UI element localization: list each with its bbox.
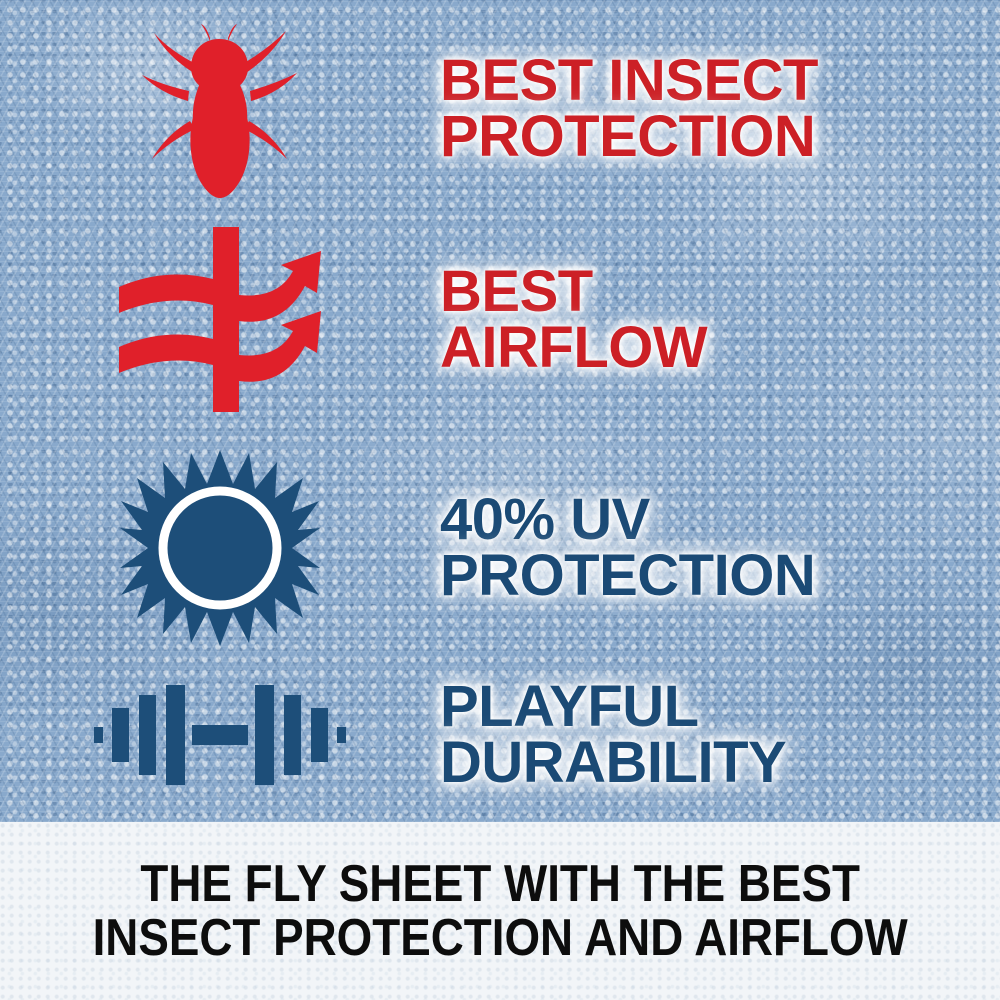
icon-cell-insect — [0, 17, 440, 202]
dumbbell-icon — [94, 675, 346, 795]
feature-row-uv-protection: 40% UV PROTECTION — [0, 440, 1000, 655]
text-cell-durability: PLAYFUL DURABILITY — [440, 679, 1000, 790]
feature-label-durability: PLAYFUL DURABILITY — [440, 679, 1000, 790]
product-feature-infographic: BEST INSECT PROTECTION — [0, 0, 1000, 1000]
feature-label-uv-protection: 40% UV PROTECTION — [440, 492, 1000, 603]
text-cell-airflow: BEST AIRFLOW — [440, 264, 1000, 375]
icon-cell-airflow — [0, 227, 440, 412]
icon-cell-uv — [0, 448, 440, 648]
feature-row-insect-protection: BEST INSECT PROTECTION — [0, 14, 1000, 204]
airflow-arrows-icon — [113, 227, 328, 412]
feature-row-durability: PLAYFUL DURABILITY — [0, 655, 1000, 815]
fly-icon — [140, 17, 300, 202]
text-cell-uv: 40% UV PROTECTION — [440, 492, 1000, 603]
sun-icon — [120, 448, 320, 648]
icon-cell-durability — [0, 675, 440, 795]
text-cell-insect: BEST INSECT PROTECTION — [440, 53, 1000, 164]
feature-row-airflow: BEST AIRFLOW — [0, 222, 1000, 417]
feature-label-insect-protection: BEST INSECT PROTECTION — [440, 53, 1000, 164]
caption-headline: THE FLY SHEET WITH THE BEST INSECT PROTE… — [92, 857, 907, 965]
caption-strip: THE FLY SHEET WITH THE BEST INSECT PROTE… — [0, 822, 1000, 1000]
feature-label-airflow: BEST AIRFLOW — [440, 264, 1000, 375]
